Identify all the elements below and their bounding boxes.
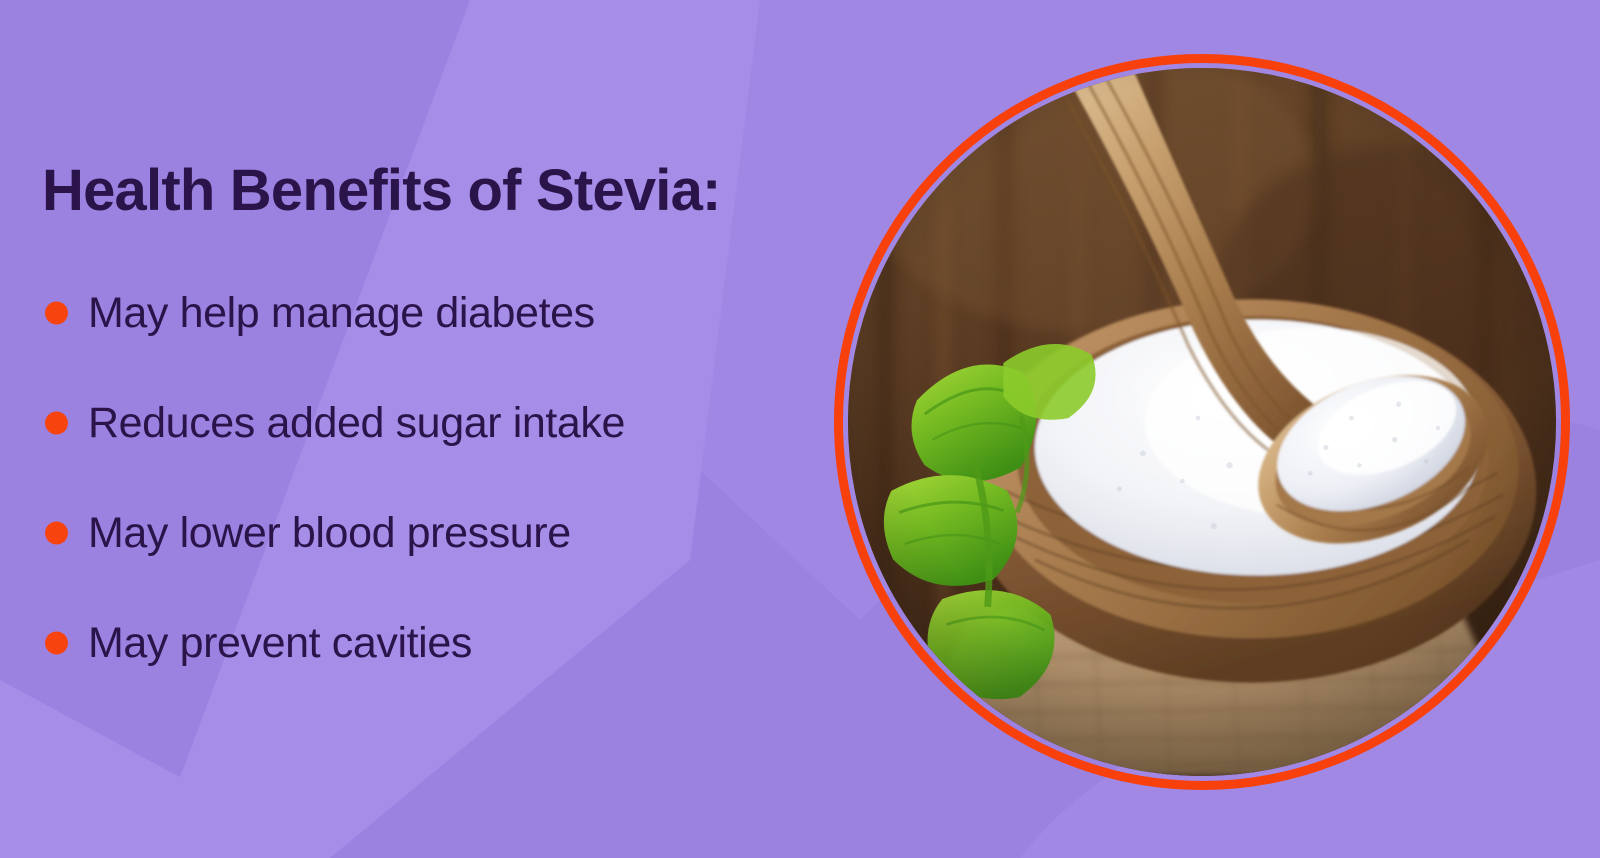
bullet-dot-icon	[45, 522, 68, 545]
stevia-photo-ring	[834, 54, 1570, 790]
list-item-label: May lower blood pressure	[88, 512, 571, 555]
slide-canvas: Health Benefits of Stevia: May help mana…	[0, 0, 1600, 858]
list-item: May lower blood pressure	[42, 478, 832, 588]
bullet-dot-icon	[45, 302, 68, 325]
list-item: Reduces added sugar intake	[42, 368, 832, 478]
list-item-label: May prevent cavities	[88, 622, 472, 665]
list-item: May help manage diabetes	[42, 258, 832, 368]
stevia-bowl-photo	[848, 68, 1556, 776]
bullet-dot-icon	[45, 632, 68, 655]
page-title: Health Benefits of Stevia:	[42, 161, 721, 222]
benefits-list: May help manage diabetes Reduces added s…	[42, 258, 832, 698]
list-item: May prevent cavities	[42, 588, 832, 698]
list-item-label: Reduces added sugar intake	[88, 402, 625, 445]
text-column: Health Benefits of Stevia: May help mana…	[0, 0, 860, 858]
list-item-label: May help manage diabetes	[88, 292, 595, 335]
bullet-dot-icon	[45, 412, 68, 435]
